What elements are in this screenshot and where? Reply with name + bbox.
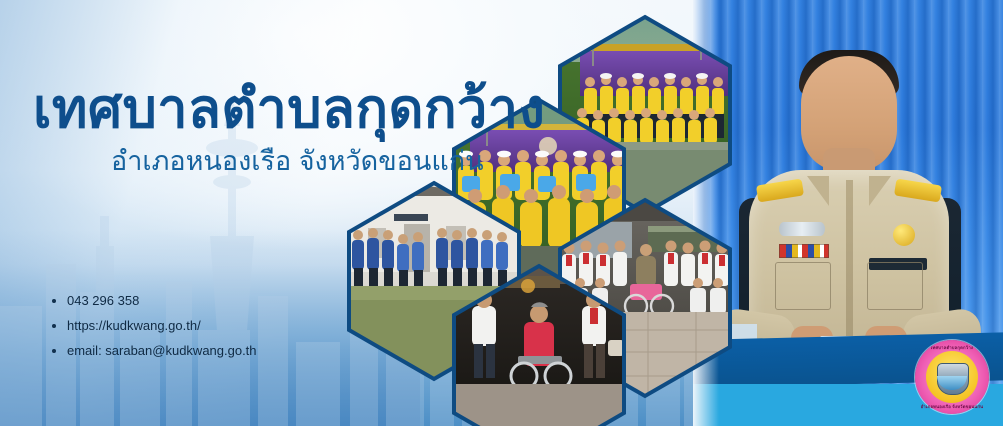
collar-left (807, 176, 829, 206)
seal-bottom-text: อำเภอหนองเรือ จังหวัดขอนแก่น (915, 403, 989, 410)
gold-emblem-icon (893, 224, 915, 246)
wing-badge-icon (779, 222, 825, 236)
contact-item-website[interactable]: https://kudkwang.go.th/ (52, 315, 257, 336)
banner-root: เทศบาลตำบลกุดกว้าง อำเภอหนองเรือ จังหวัด… (0, 0, 1003, 426)
mayor-figure (733, 48, 965, 348)
seal-top-text: เทศบาลตำบลกุดกว้าง (915, 344, 989, 351)
chest-pocket-right (867, 262, 923, 310)
contact-item-email[interactable]: email: saraban@kudkwang.go.th (52, 340, 257, 361)
contact-email-text[interactable]: email: saraban@kudkwang.go.th (67, 340, 257, 361)
seal-inner-disc (926, 351, 978, 403)
contact-item-phone: 043 296 358 (52, 290, 257, 311)
bullet-icon (52, 349, 56, 353)
panel-left-fade (693, 0, 719, 426)
contact-phone-text: 043 296 358 (67, 290, 139, 311)
contact-list: 043 296 358 https://kudkwang.go.th/ emai… (52, 290, 257, 365)
title-block: เทศบาลตำบลกุดกว้าง อำเภอหนองเรือ จังหวัด… (33, 78, 653, 178)
contact-website-text[interactable]: https://kudkwang.go.th/ (67, 315, 201, 336)
bullet-icon (52, 299, 56, 303)
collar-right (869, 176, 891, 206)
epaulette-right (894, 179, 942, 203)
service-ribbons (779, 244, 829, 258)
epaulette-left (756, 179, 804, 203)
shirt-placket (846, 180, 853, 348)
bullet-icon (52, 324, 56, 328)
municipal-seal-logo: เทศบาลตำบลกุดกว้าง อำเภอหนองเรือ จังหวัด… (915, 340, 989, 414)
page-subtitle: อำเภอหนองเรือ จังหวัดขอนแก่น (111, 145, 653, 179)
chest-pocket-left (775, 262, 831, 310)
page-title: เทศบาลตำบลกุดกว้าง (33, 78, 653, 141)
